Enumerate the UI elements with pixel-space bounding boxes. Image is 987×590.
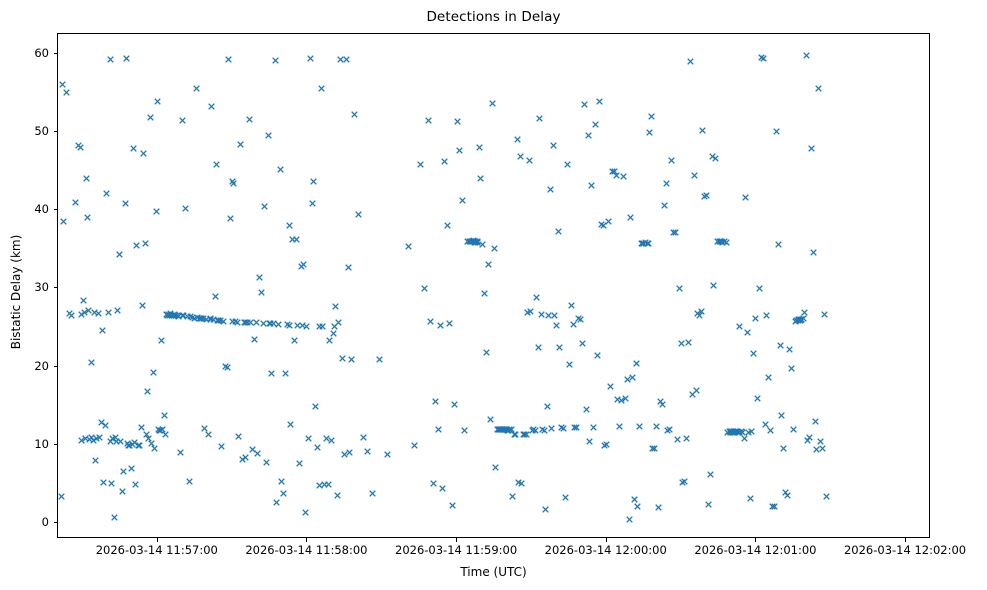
scatter-point bbox=[128, 465, 135, 472]
scatter-point bbox=[58, 493, 65, 500]
scatter-point bbox=[509, 493, 516, 500]
scatter-point bbox=[723, 239, 730, 246]
scatter-point bbox=[707, 471, 714, 478]
scatter-point bbox=[92, 457, 99, 464]
scatter-point bbox=[147, 114, 154, 121]
scatter-point bbox=[765, 374, 772, 381]
scatter-point bbox=[435, 426, 442, 433]
scatter-point bbox=[588, 182, 595, 189]
x-tick-label: 2026-03-14 11:57:00 bbox=[96, 543, 218, 557]
scatter-point bbox=[583, 406, 590, 413]
scatter-point bbox=[351, 111, 358, 118]
scatter-point bbox=[454, 118, 461, 125]
scatter-point bbox=[119, 488, 126, 495]
scatter-point bbox=[747, 495, 754, 502]
scatter-point bbox=[756, 285, 763, 292]
scatter-point bbox=[100, 479, 107, 486]
scatter-point bbox=[446, 320, 453, 327]
scatter-point bbox=[456, 147, 463, 154]
scatter-point bbox=[325, 481, 332, 488]
scatter-point bbox=[108, 480, 115, 487]
scatter-point bbox=[80, 297, 87, 304]
scatter-point bbox=[586, 438, 593, 445]
scatter-point bbox=[251, 336, 258, 343]
scatter-point bbox=[224, 364, 231, 371]
scatter-point bbox=[151, 445, 158, 452]
scatter-point bbox=[504, 427, 511, 434]
scatter-point bbox=[645, 240, 652, 247]
scatter-point bbox=[205, 431, 212, 438]
scatter-point bbox=[83, 175, 90, 182]
scatter-point bbox=[744, 329, 751, 336]
scatter-point bbox=[208, 103, 215, 110]
scatter-point bbox=[532, 427, 539, 434]
scatter-point bbox=[330, 330, 337, 337]
scatter-point bbox=[798, 316, 805, 323]
scatter-point bbox=[659, 401, 666, 408]
scatter-point bbox=[489, 100, 496, 107]
scatter-point bbox=[103, 190, 110, 197]
scatter-point bbox=[96, 434, 103, 441]
scatter-point bbox=[622, 395, 629, 402]
scatter-point bbox=[278, 478, 285, 485]
scatter-point bbox=[345, 264, 352, 271]
scatter-point bbox=[449, 502, 456, 509]
scatter-point bbox=[179, 312, 186, 319]
scatter-point bbox=[186, 478, 193, 485]
scatter-point bbox=[272, 57, 279, 64]
scatter-point bbox=[535, 344, 542, 351]
scatter-point bbox=[710, 282, 717, 289]
scatter-point bbox=[265, 132, 272, 139]
scatter-point bbox=[550, 142, 557, 149]
scatter-point bbox=[548, 425, 555, 432]
scatter-point bbox=[273, 499, 280, 506]
x-tick-label: 2026-03-14 12:02:00 bbox=[844, 543, 966, 557]
scatter-point bbox=[492, 464, 499, 471]
scatter-point bbox=[63, 89, 70, 96]
scatter-point bbox=[296, 460, 303, 467]
scatter-point bbox=[242, 319, 249, 326]
scatter-point bbox=[698, 308, 705, 315]
scatter-point bbox=[214, 317, 221, 324]
x-tick-mark bbox=[157, 538, 158, 542]
scatter-point bbox=[479, 241, 486, 248]
scatter-point bbox=[577, 316, 584, 323]
scatter-point bbox=[177, 449, 184, 456]
scatter-point bbox=[803, 52, 810, 59]
scatter-point bbox=[742, 194, 749, 201]
scatter-point bbox=[120, 468, 127, 475]
scatter-point bbox=[326, 337, 333, 344]
scatter-point bbox=[360, 434, 367, 441]
scatter-point bbox=[99, 327, 106, 334]
scatter-point bbox=[116, 251, 123, 258]
scatter-point bbox=[592, 121, 599, 128]
scatter-point bbox=[287, 421, 294, 428]
scatter-point bbox=[411, 442, 418, 449]
x-tick-label: 2026-03-14 11:59:00 bbox=[395, 543, 517, 557]
scatter-point bbox=[348, 356, 355, 363]
scatter-point bbox=[784, 492, 791, 499]
scatter-point bbox=[777, 342, 784, 349]
scatter-point bbox=[343, 56, 350, 63]
scatter-point bbox=[95, 310, 102, 317]
scatter-point bbox=[773, 128, 780, 135]
scatter-point bbox=[681, 478, 688, 485]
scatter-point bbox=[666, 426, 673, 433]
scatter-point bbox=[750, 350, 757, 357]
scatter-point bbox=[487, 416, 494, 423]
scatter-point bbox=[144, 388, 151, 395]
scatter-point bbox=[68, 312, 75, 319]
scatter-point bbox=[179, 117, 186, 124]
scatter-point bbox=[538, 311, 545, 318]
scatter-point bbox=[310, 178, 317, 185]
scatter-point bbox=[585, 132, 592, 139]
scatter-point bbox=[767, 427, 774, 434]
scatter-point bbox=[760, 55, 767, 62]
scatter-point bbox=[253, 319, 260, 326]
scatter-point bbox=[59, 81, 66, 88]
scatter-point bbox=[547, 186, 554, 193]
scatter-point bbox=[573, 424, 580, 431]
scatter-point bbox=[459, 197, 466, 204]
scatter-point bbox=[246, 116, 253, 123]
scatter-point bbox=[527, 308, 534, 315]
scatter-point bbox=[220, 318, 227, 325]
scatter-point bbox=[693, 387, 700, 394]
scatter-point bbox=[405, 243, 412, 250]
scatter-point bbox=[328, 437, 335, 444]
x-tick-mark bbox=[755, 538, 756, 542]
scatter-point bbox=[556, 344, 563, 351]
scatter-point bbox=[542, 506, 549, 513]
scatter-point bbox=[331, 323, 338, 330]
y-tick-label: 30 bbox=[5, 280, 49, 294]
scatter-point bbox=[107, 56, 114, 63]
scatter-point bbox=[258, 289, 265, 296]
scatter-point bbox=[150, 369, 157, 376]
scatter-point bbox=[154, 98, 161, 105]
scatter-point bbox=[653, 423, 660, 430]
scatter-point bbox=[302, 509, 309, 516]
scatter-point bbox=[291, 337, 298, 344]
scatter-point bbox=[299, 322, 306, 329]
scatter-point bbox=[193, 85, 200, 92]
scatter-point bbox=[334, 492, 341, 499]
scatter-point bbox=[712, 155, 719, 162]
y-tick-label: 40 bbox=[5, 202, 49, 216]
scatter-point bbox=[369, 490, 376, 497]
scatter-point bbox=[293, 236, 300, 243]
scatter-point bbox=[114, 307, 121, 314]
scatter-point bbox=[441, 158, 448, 165]
scatter-point bbox=[780, 445, 787, 452]
scatter-point bbox=[491, 245, 498, 252]
scatter-point bbox=[157, 427, 164, 434]
scatter-point bbox=[305, 435, 312, 442]
scatter-point bbox=[444, 222, 451, 229]
scatter-point bbox=[432, 398, 439, 405]
scatter-point bbox=[748, 428, 755, 435]
x-tick-label: 2026-03-14 12:01:00 bbox=[694, 543, 816, 557]
scatter-point bbox=[627, 214, 634, 221]
scatter-point bbox=[819, 445, 826, 452]
scatter-point bbox=[275, 321, 282, 328]
scatter-point bbox=[705, 501, 712, 508]
scatter-point bbox=[754, 395, 761, 402]
scatter-point bbox=[132, 481, 139, 488]
scatter-point bbox=[672, 229, 679, 236]
scatter-point bbox=[683, 435, 690, 442]
scatter-point bbox=[483, 349, 490, 356]
scatter-point bbox=[225, 56, 232, 63]
scatter-point bbox=[536, 115, 543, 122]
scatter-point bbox=[514, 136, 521, 143]
scatter-point bbox=[85, 307, 92, 314]
scatter-point bbox=[594, 352, 601, 359]
scatter-point bbox=[427, 318, 434, 325]
scatter-point bbox=[568, 302, 575, 309]
scatter-point bbox=[613, 172, 620, 179]
scatter-point bbox=[212, 293, 219, 300]
scatter-point bbox=[122, 200, 129, 207]
scatter-point bbox=[806, 434, 813, 441]
scatter-point bbox=[207, 316, 214, 323]
scatter-point bbox=[533, 294, 540, 301]
scatter-point bbox=[626, 516, 633, 523]
scatter-point bbox=[332, 303, 339, 310]
scatter-point bbox=[227, 215, 234, 222]
scatter-point bbox=[314, 444, 321, 451]
scatter-point bbox=[752, 315, 759, 322]
scatter-point bbox=[282, 370, 289, 377]
scatter-point bbox=[655, 504, 662, 511]
plot-area bbox=[57, 33, 930, 538]
scatter-point bbox=[133, 242, 140, 249]
scatter-point bbox=[815, 85, 822, 92]
scatter-point bbox=[256, 274, 263, 281]
scatter-point bbox=[230, 180, 237, 187]
scatter-point bbox=[579, 340, 586, 347]
scatter-point bbox=[88, 359, 95, 366]
scatter-point bbox=[485, 261, 492, 268]
scatter-point bbox=[300, 261, 307, 268]
scatter-point bbox=[581, 101, 588, 108]
scatter-point bbox=[277, 166, 284, 173]
scatter-point bbox=[242, 454, 249, 461]
scatter-point bbox=[687, 58, 694, 65]
scatter-point bbox=[674, 436, 681, 443]
y-tick-label: 60 bbox=[5, 46, 49, 60]
scatter-point bbox=[564, 161, 571, 168]
scatter-point bbox=[182, 205, 189, 212]
scatter-point bbox=[430, 480, 437, 487]
y-tick-label: 20 bbox=[5, 359, 49, 373]
scatter-point bbox=[140, 150, 147, 157]
scatter-point bbox=[596, 98, 603, 105]
scatter-point bbox=[142, 240, 149, 247]
scatter-point bbox=[229, 318, 236, 325]
scatter-point bbox=[123, 55, 130, 62]
scatter-point bbox=[112, 434, 119, 441]
scatter-point bbox=[808, 145, 815, 152]
scatter-point bbox=[566, 361, 573, 368]
scatter-point bbox=[153, 208, 160, 215]
scatter-point bbox=[161, 412, 168, 419]
scatter-point bbox=[821, 311, 828, 318]
scatter-point bbox=[541, 427, 548, 434]
scatter-point bbox=[555, 228, 562, 235]
scatter-point bbox=[60, 218, 67, 225]
scatter-point bbox=[786, 346, 793, 353]
y-tick-label: 0 bbox=[5, 515, 49, 529]
scatter-point bbox=[158, 337, 165, 344]
scatter-point bbox=[633, 360, 640, 367]
scatter-point bbox=[699, 127, 706, 134]
scatter-point bbox=[476, 144, 483, 151]
scatter-point bbox=[267, 320, 274, 327]
scatter-point bbox=[130, 145, 137, 152]
x-tick-label: 2026-03-14 11:58:00 bbox=[245, 543, 367, 557]
scatter-point bbox=[461, 427, 468, 434]
scatter-point bbox=[263, 459, 270, 466]
scatter-series-detections bbox=[58, 34, 929, 537]
scatter-point bbox=[280, 490, 287, 497]
scatter-point bbox=[136, 442, 143, 449]
scatter-point bbox=[421, 285, 428, 292]
scatter-point bbox=[235, 433, 242, 440]
scatter-point bbox=[218, 443, 225, 450]
scatter-point bbox=[384, 451, 391, 458]
scatter-point bbox=[316, 323, 323, 330]
scatter-point bbox=[616, 423, 623, 430]
scatter-point bbox=[77, 144, 84, 151]
scatter-point bbox=[309, 200, 316, 207]
scatter-point bbox=[261, 203, 268, 210]
scatter-point bbox=[197, 315, 204, 322]
x-axis-label: Time (UTC) bbox=[0, 565, 987, 579]
scatter-point bbox=[417, 161, 424, 168]
y-tick-label: 10 bbox=[5, 437, 49, 451]
scatter-point bbox=[346, 449, 353, 456]
scatter-point bbox=[590, 424, 597, 431]
scatter-point bbox=[812, 418, 819, 425]
x-tick-mark bbox=[606, 538, 607, 542]
y-tick-label: 50 bbox=[5, 124, 49, 138]
scatter-point bbox=[603, 441, 610, 448]
scatter-point bbox=[518, 480, 525, 487]
scatter-point bbox=[676, 285, 683, 292]
scatter-point bbox=[636, 423, 643, 430]
scatter-point bbox=[685, 339, 692, 346]
scatter-point bbox=[355, 211, 362, 218]
x-tick-mark bbox=[306, 538, 307, 542]
scatter-point bbox=[512, 431, 519, 438]
scatter-point bbox=[111, 514, 118, 521]
scatter-point bbox=[607, 383, 614, 390]
scatter-point bbox=[691, 172, 698, 179]
scatter-point bbox=[318, 85, 325, 92]
scatter-point bbox=[788, 365, 795, 372]
scatter-point bbox=[560, 425, 567, 432]
scatter-point bbox=[364, 448, 371, 455]
scatter-point bbox=[286, 222, 293, 229]
scatter-point bbox=[84, 214, 91, 221]
scatter-point bbox=[72, 199, 79, 206]
scatter-point bbox=[437, 322, 444, 329]
scatter-point bbox=[778, 412, 785, 419]
scatter-point bbox=[620, 173, 627, 180]
scatter-point bbox=[717, 238, 724, 245]
scatter-point bbox=[823, 493, 830, 500]
scatter-point bbox=[439, 485, 446, 492]
scatter-point bbox=[790, 426, 797, 433]
scatter-point bbox=[771, 503, 778, 510]
scatter-point bbox=[254, 450, 261, 457]
scatter-point bbox=[736, 429, 743, 436]
scatter-point bbox=[678, 340, 685, 347]
scatter-point bbox=[312, 403, 319, 410]
scatter-point bbox=[213, 161, 220, 168]
scatter-point bbox=[736, 323, 743, 330]
scatter-point bbox=[425, 117, 432, 124]
scatter-point bbox=[763, 312, 770, 319]
scatter-point bbox=[661, 202, 668, 209]
scatter-point bbox=[268, 370, 275, 377]
scatter-point bbox=[551, 312, 558, 319]
scatter-point bbox=[469, 238, 476, 245]
scatter-point bbox=[651, 445, 658, 452]
scatter-point bbox=[477, 175, 484, 182]
scatter-point bbox=[605, 218, 612, 225]
scatter-point bbox=[634, 503, 641, 510]
scatter-point bbox=[307, 55, 314, 62]
scatter-point bbox=[517, 153, 524, 160]
scatter-point bbox=[481, 290, 488, 297]
scatter-point bbox=[646, 129, 653, 136]
scatter-point bbox=[810, 249, 817, 256]
scatter-point bbox=[286, 322, 293, 329]
scatter-point bbox=[138, 424, 145, 431]
scatter-point bbox=[629, 374, 636, 381]
page-title: Detections in Delay bbox=[0, 9, 987, 25]
scatter-point bbox=[526, 157, 533, 164]
scatter-point bbox=[668, 157, 675, 164]
scatter-point bbox=[775, 241, 782, 248]
x-tick-mark bbox=[456, 538, 457, 542]
scatter-point bbox=[562, 494, 569, 501]
scatter-point bbox=[237, 141, 244, 148]
scatter-point bbox=[102, 422, 109, 429]
scatter-point bbox=[166, 312, 173, 319]
scatter-point bbox=[139, 302, 146, 309]
x-tick-mark bbox=[905, 538, 906, 542]
matplotlib-figure: Detections in Delay Bistatic Delay (km) … bbox=[0, 0, 987, 590]
scatter-point bbox=[648, 113, 655, 120]
scatter-point bbox=[663, 180, 670, 187]
scatter-point bbox=[451, 401, 458, 408]
scatter-point bbox=[544, 403, 551, 410]
scatter-point bbox=[105, 309, 112, 316]
scatter-point bbox=[703, 192, 710, 199]
scatter-point bbox=[376, 356, 383, 363]
scatter-point bbox=[553, 322, 560, 329]
x-tick-label: 2026-03-14 12:00:00 bbox=[545, 543, 667, 557]
scatter-point bbox=[801, 309, 808, 316]
scatter-point bbox=[339, 355, 346, 362]
